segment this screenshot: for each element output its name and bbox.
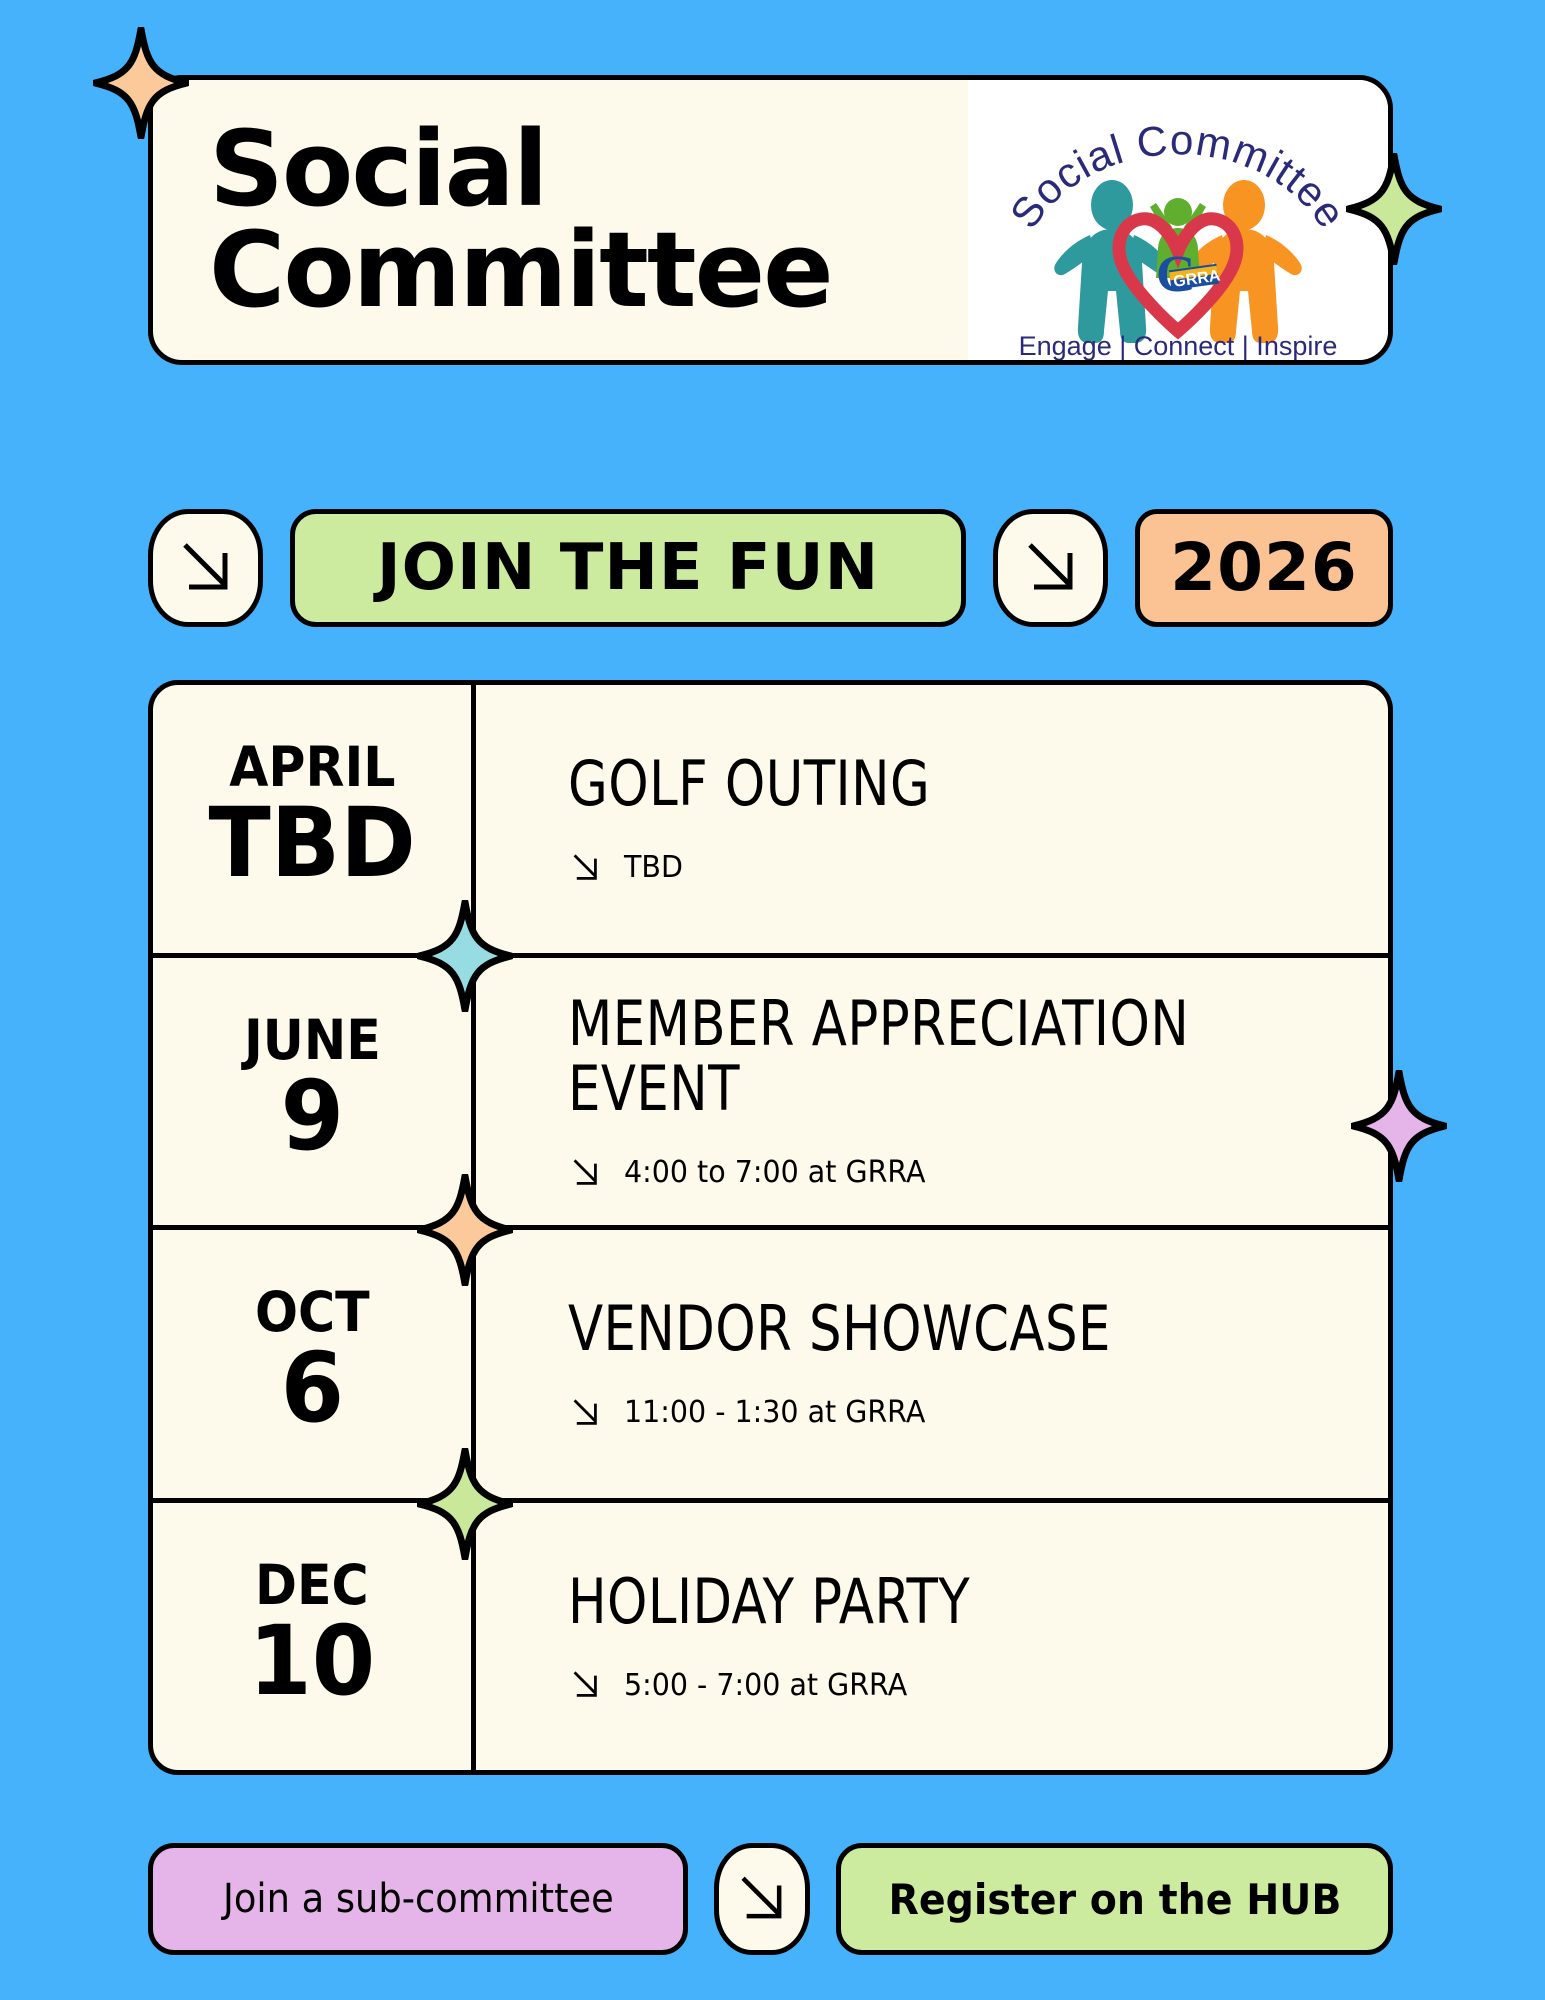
header-card: Social Committee Social Committee	[148, 75, 1393, 365]
event-detail: 5:00 - 7:00 at GRRA	[568, 1668, 1358, 1703]
join-subcommittee-button[interactable]: Join a sub-committee	[148, 1843, 688, 1955]
header-section: Social Committee Social Committee	[148, 75, 1393, 365]
logo-tagline: Engage | Connect | Inspire	[1019, 331, 1338, 361]
event-detail-text: 11:00 - 1:30 at GRRA	[624, 1395, 925, 1430]
figure-left-icon	[1054, 180, 1169, 343]
logo-graphic: Social Committee	[980, 79, 1376, 361]
event-info: VENDOR SHOWCASE 11:00 - 1:30 at GRRA	[476, 1230, 1388, 1498]
event-info: GOLF OUTING TBD	[476, 685, 1388, 953]
arrow-down-right-icon	[734, 1871, 790, 1927]
event-detail-text: 4:00 to 7:00 at GRRA	[624, 1155, 926, 1190]
title-line-2: Committee	[209, 220, 968, 321]
event-detail: TBD	[568, 850, 1358, 885]
event-info: MEMBER APPRECIATION EVENT 4:00 to 7:00 a…	[476, 958, 1388, 1226]
year-badge: 2026	[1135, 509, 1393, 627]
date-cell: DEC 10	[153, 1503, 476, 1771]
event-day: 9	[280, 1068, 343, 1166]
event-title: MEMBER APPRECIATION EVENT	[568, 992, 1295, 1121]
year-label: 2026	[1170, 529, 1358, 606]
arrow-down-right-icon	[568, 1396, 602, 1430]
event-info: HOLIDAY PARTY 5:00 - 7:00 at GRRA	[476, 1503, 1388, 1771]
banner-arrow-left[interactable]	[148, 509, 263, 627]
event-detail: 11:00 - 1:30 at GRRA	[568, 1395, 1358, 1430]
social-committee-logo: Social Committee	[968, 80, 1388, 360]
table-row[interactable]: APRIL TBD GOLF OUTING TBD	[153, 685, 1388, 958]
event-title: HOLIDAY PARTY	[568, 1570, 1295, 1634]
table-row[interactable]: OCT 6 VENDOR SHOWCASE 11:00 - 1:30 at GR…	[153, 1230, 1388, 1503]
register-hub-label: Register on the HUB	[888, 1875, 1341, 1924]
event-day: 6	[280, 1340, 343, 1438]
poster-canvas: Social Committee Social Committee	[0, 0, 1545, 2000]
join-the-fun-label: JOIN THE FUN	[377, 531, 879, 605]
join-subcommittee-label: Join a sub-committee	[223, 1876, 614, 1922]
date-cell: APRIL TBD	[153, 685, 476, 953]
footer-row: Join a sub-committee Register on the HUB	[148, 1840, 1393, 1958]
arrow-down-right-icon	[175, 537, 237, 599]
date-cell: OCT 6	[153, 1230, 476, 1498]
event-day: 10	[249, 1613, 376, 1711]
title-line-1: Social	[209, 119, 968, 220]
date-cell: JUNE 9	[153, 958, 476, 1226]
banner-arrow-right[interactable]	[993, 509, 1108, 627]
arrow-down-right-icon	[568, 1668, 602, 1702]
schedule-rows: APRIL TBD GOLF OUTING TBD	[153, 685, 1388, 1770]
register-hub-button[interactable]: Register on the HUB	[836, 1843, 1393, 1955]
page-title: Social Committee	[153, 80, 968, 360]
event-title: GOLF OUTING	[568, 752, 1295, 816]
table-row[interactable]: DEC 10 HOLIDAY PARTY 5:00 - 7:00 at GRRA	[153, 1503, 1388, 1771]
table-row[interactable]: JUNE 9 MEMBER APPRECIATION EVENT 4:00 to…	[153, 958, 1388, 1231]
event-day: TBD	[208, 795, 415, 893]
join-the-fun-button[interactable]: JOIN THE FUN	[290, 509, 966, 627]
schedule-table: APRIL TBD GOLF OUTING TBD	[148, 680, 1393, 1775]
arrow-down-right-icon	[568, 851, 602, 885]
figure-right-icon	[1186, 180, 1301, 343]
event-detail: 4:00 to 7:00 at GRRA	[568, 1155, 1358, 1190]
banner-row: JOIN THE FUN 2026	[148, 505, 1393, 630]
arrow-down-right-icon	[1020, 537, 1082, 599]
footer-arrow[interactable]	[714, 1843, 810, 1955]
event-detail-text: 5:00 - 7:00 at GRRA	[624, 1668, 907, 1703]
arrow-down-right-icon	[568, 1156, 602, 1190]
event-detail-text: TBD	[624, 850, 683, 885]
event-title: VENDOR SHOWCASE	[568, 1297, 1295, 1361]
